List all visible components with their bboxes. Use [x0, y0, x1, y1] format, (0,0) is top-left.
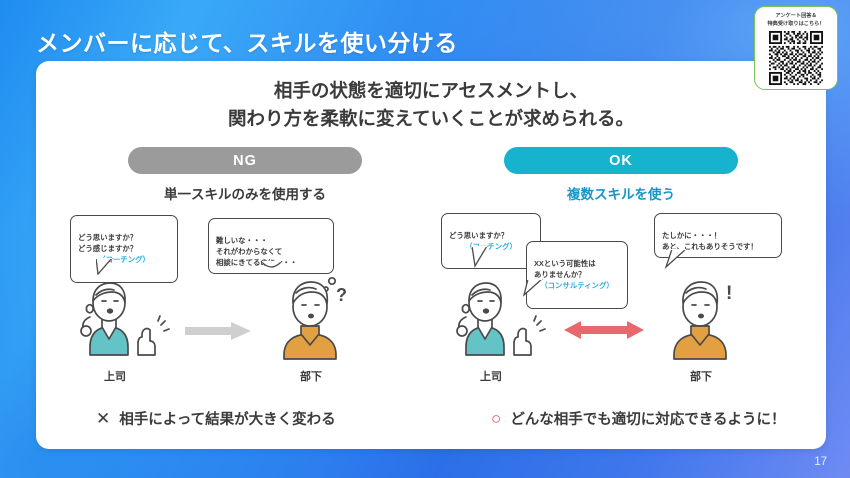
ok-bubble-boss-1-text: どう思いますか？	[449, 231, 508, 240]
ng-conclusion: ✕ 相手によって結果が大きく変わる	[96, 408, 336, 429]
ng-subtitle: 単一スキルのみを使用する	[60, 183, 430, 203]
ok-subordinate-label: 部下	[666, 368, 736, 384]
ok-column: OK 複数スキルを使う どう思いますか？ （コーチング） XXという可能性は あ…	[436, 147, 806, 411]
qr-promo-card[interactable]: アンケート回答＆ 特典受け取りはこちら！	[754, 6, 838, 90]
ng-bubble-boss-tail	[96, 258, 118, 275]
ok-bubble-boss-1-tail	[472, 246, 498, 268]
ng-boss-figure	[68, 275, 176, 365]
ng-bubble-boss-text: どう思いますか？ どう感じますか？	[78, 233, 137, 253]
svg-text:!: !	[726, 283, 732, 304]
ng-bubble-boss-tag: （コーチング）	[78, 254, 170, 265]
ng-subordinate-figure: ?	[256, 271, 366, 365]
page-title: メンバーに応じて、スキルを使い分ける	[36, 24, 458, 58]
ok-subtitle: 複数スキルを使う	[436, 183, 806, 203]
ok-scene: どう思いますか？ （コーチング） XXという可能性は ありませんか？ （コンサル…	[436, 213, 806, 411]
ng-subordinate-label: 部下	[276, 368, 346, 384]
ng-boss-label: 上司	[80, 368, 150, 384]
ok-bubble-subordinate-tail	[664, 249, 688, 269]
content-card: 相手の状態を適切にアセスメントし、 関わり方を柔軟に変えていくことが求められる。…	[36, 61, 826, 449]
ok-badge: OK	[504, 147, 738, 174]
slide-root: メンバーに応じて、スキルを使い分ける アンケート回答＆ 特典受け取りはこちら！	[0, 0, 850, 478]
card-subtitle: 相手の状態を適切にアセスメントし、 関わり方を柔軟に変えていくことが求められる。	[36, 77, 826, 133]
ok-conclusion: ○ どんな相手でも適切に対応できるように！	[491, 408, 786, 429]
page-number: 17	[814, 456, 827, 468]
ng-transition-arrow	[185, 321, 253, 341]
qr-code-icon	[769, 31, 823, 90]
ng-badge: NG	[128, 147, 362, 174]
ok-subordinate-figure: !	[646, 271, 756, 365]
ok-boss-figure	[444, 275, 552, 365]
ng-column: NG 単一スキルのみを使用する どう思いますか？ どう感じますか？ （コーチング…	[60, 147, 430, 411]
ng-scene: どう思いますか？ どう感じますか？ （コーチング） 難しいな・・・ それがわから…	[60, 213, 430, 411]
ng-bubble-boss: どう思いますか？ どう感じますか？ （コーチング）	[70, 215, 178, 283]
cross-icon: ✕	[96, 410, 110, 427]
svg-text:?: ?	[336, 285, 347, 305]
ok-mutual-arrow	[564, 319, 646, 341]
qr-caption: アンケート回答＆ 特典受け取りはこちら！	[767, 13, 824, 28]
ng-conclusion-text: 相手によって結果が大きく変わる	[119, 408, 335, 429]
ok-conclusion-text: どんな相手でも適切に対応できるように！	[510, 408, 785, 429]
ok-boss-label: 上司	[456, 368, 526, 384]
circle-icon: ○	[491, 410, 501, 427]
